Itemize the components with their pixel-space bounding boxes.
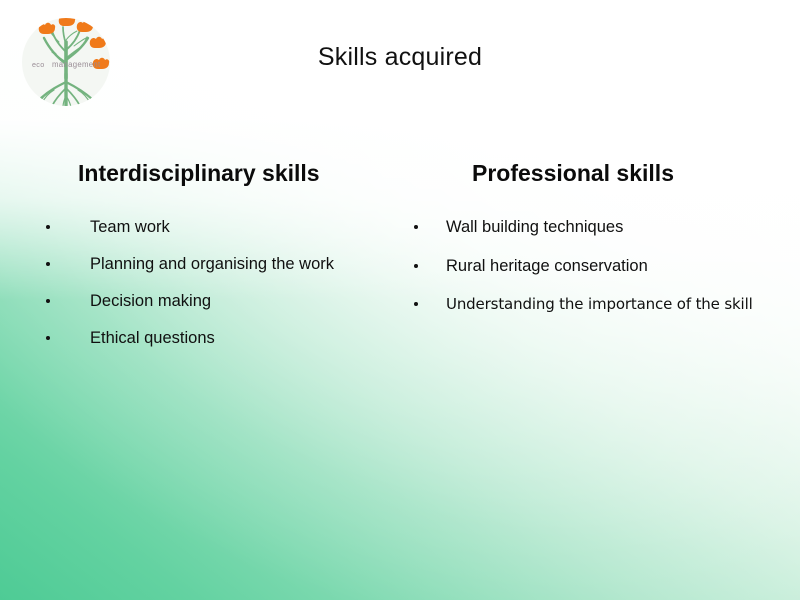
bullet-icon (46, 262, 50, 266)
bullet-icon (414, 264, 418, 268)
list-item-label: Decision making (90, 290, 368, 312)
list-item-label: Understanding the importance of the skil… (446, 294, 780, 315)
list-item: Rural heritage conservation (408, 255, 780, 277)
list-item: Ethical questions (38, 327, 368, 349)
list-item: Wall building techniques (408, 216, 780, 238)
list-item-label: Team work (90, 216, 368, 238)
bullet-icon (46, 225, 50, 229)
interdisciplinary-skills-list: Team work Planning and organising the wo… (38, 216, 368, 364)
bullet-icon (46, 299, 50, 303)
list-item: Understanding the importance of the skil… (408, 294, 780, 315)
list-item-label: Wall building techniques (446, 216, 780, 238)
list-item: Team work (38, 216, 368, 238)
list-item: Decision making (38, 290, 368, 312)
list-item-label: Planning and organising the work (90, 253, 368, 275)
bullet-icon (414, 225, 418, 229)
slide-title: Skills acquired (0, 42, 800, 72)
list-item-label: Ethical questions (90, 327, 368, 349)
column-heading-professional: Professional skills (472, 159, 674, 187)
list-item: Planning and organising the work (38, 253, 368, 275)
column-heading-interdisciplinary: Interdisciplinary skills (78, 159, 320, 187)
list-item-label: Rural heritage conservation (446, 255, 780, 277)
slide: eco management Skills acquired Interdisc… (0, 0, 800, 600)
professional-skills-list: Wall building techniques Rural heritage … (408, 216, 780, 332)
bullet-icon (414, 302, 418, 306)
bullet-icon (46, 336, 50, 340)
